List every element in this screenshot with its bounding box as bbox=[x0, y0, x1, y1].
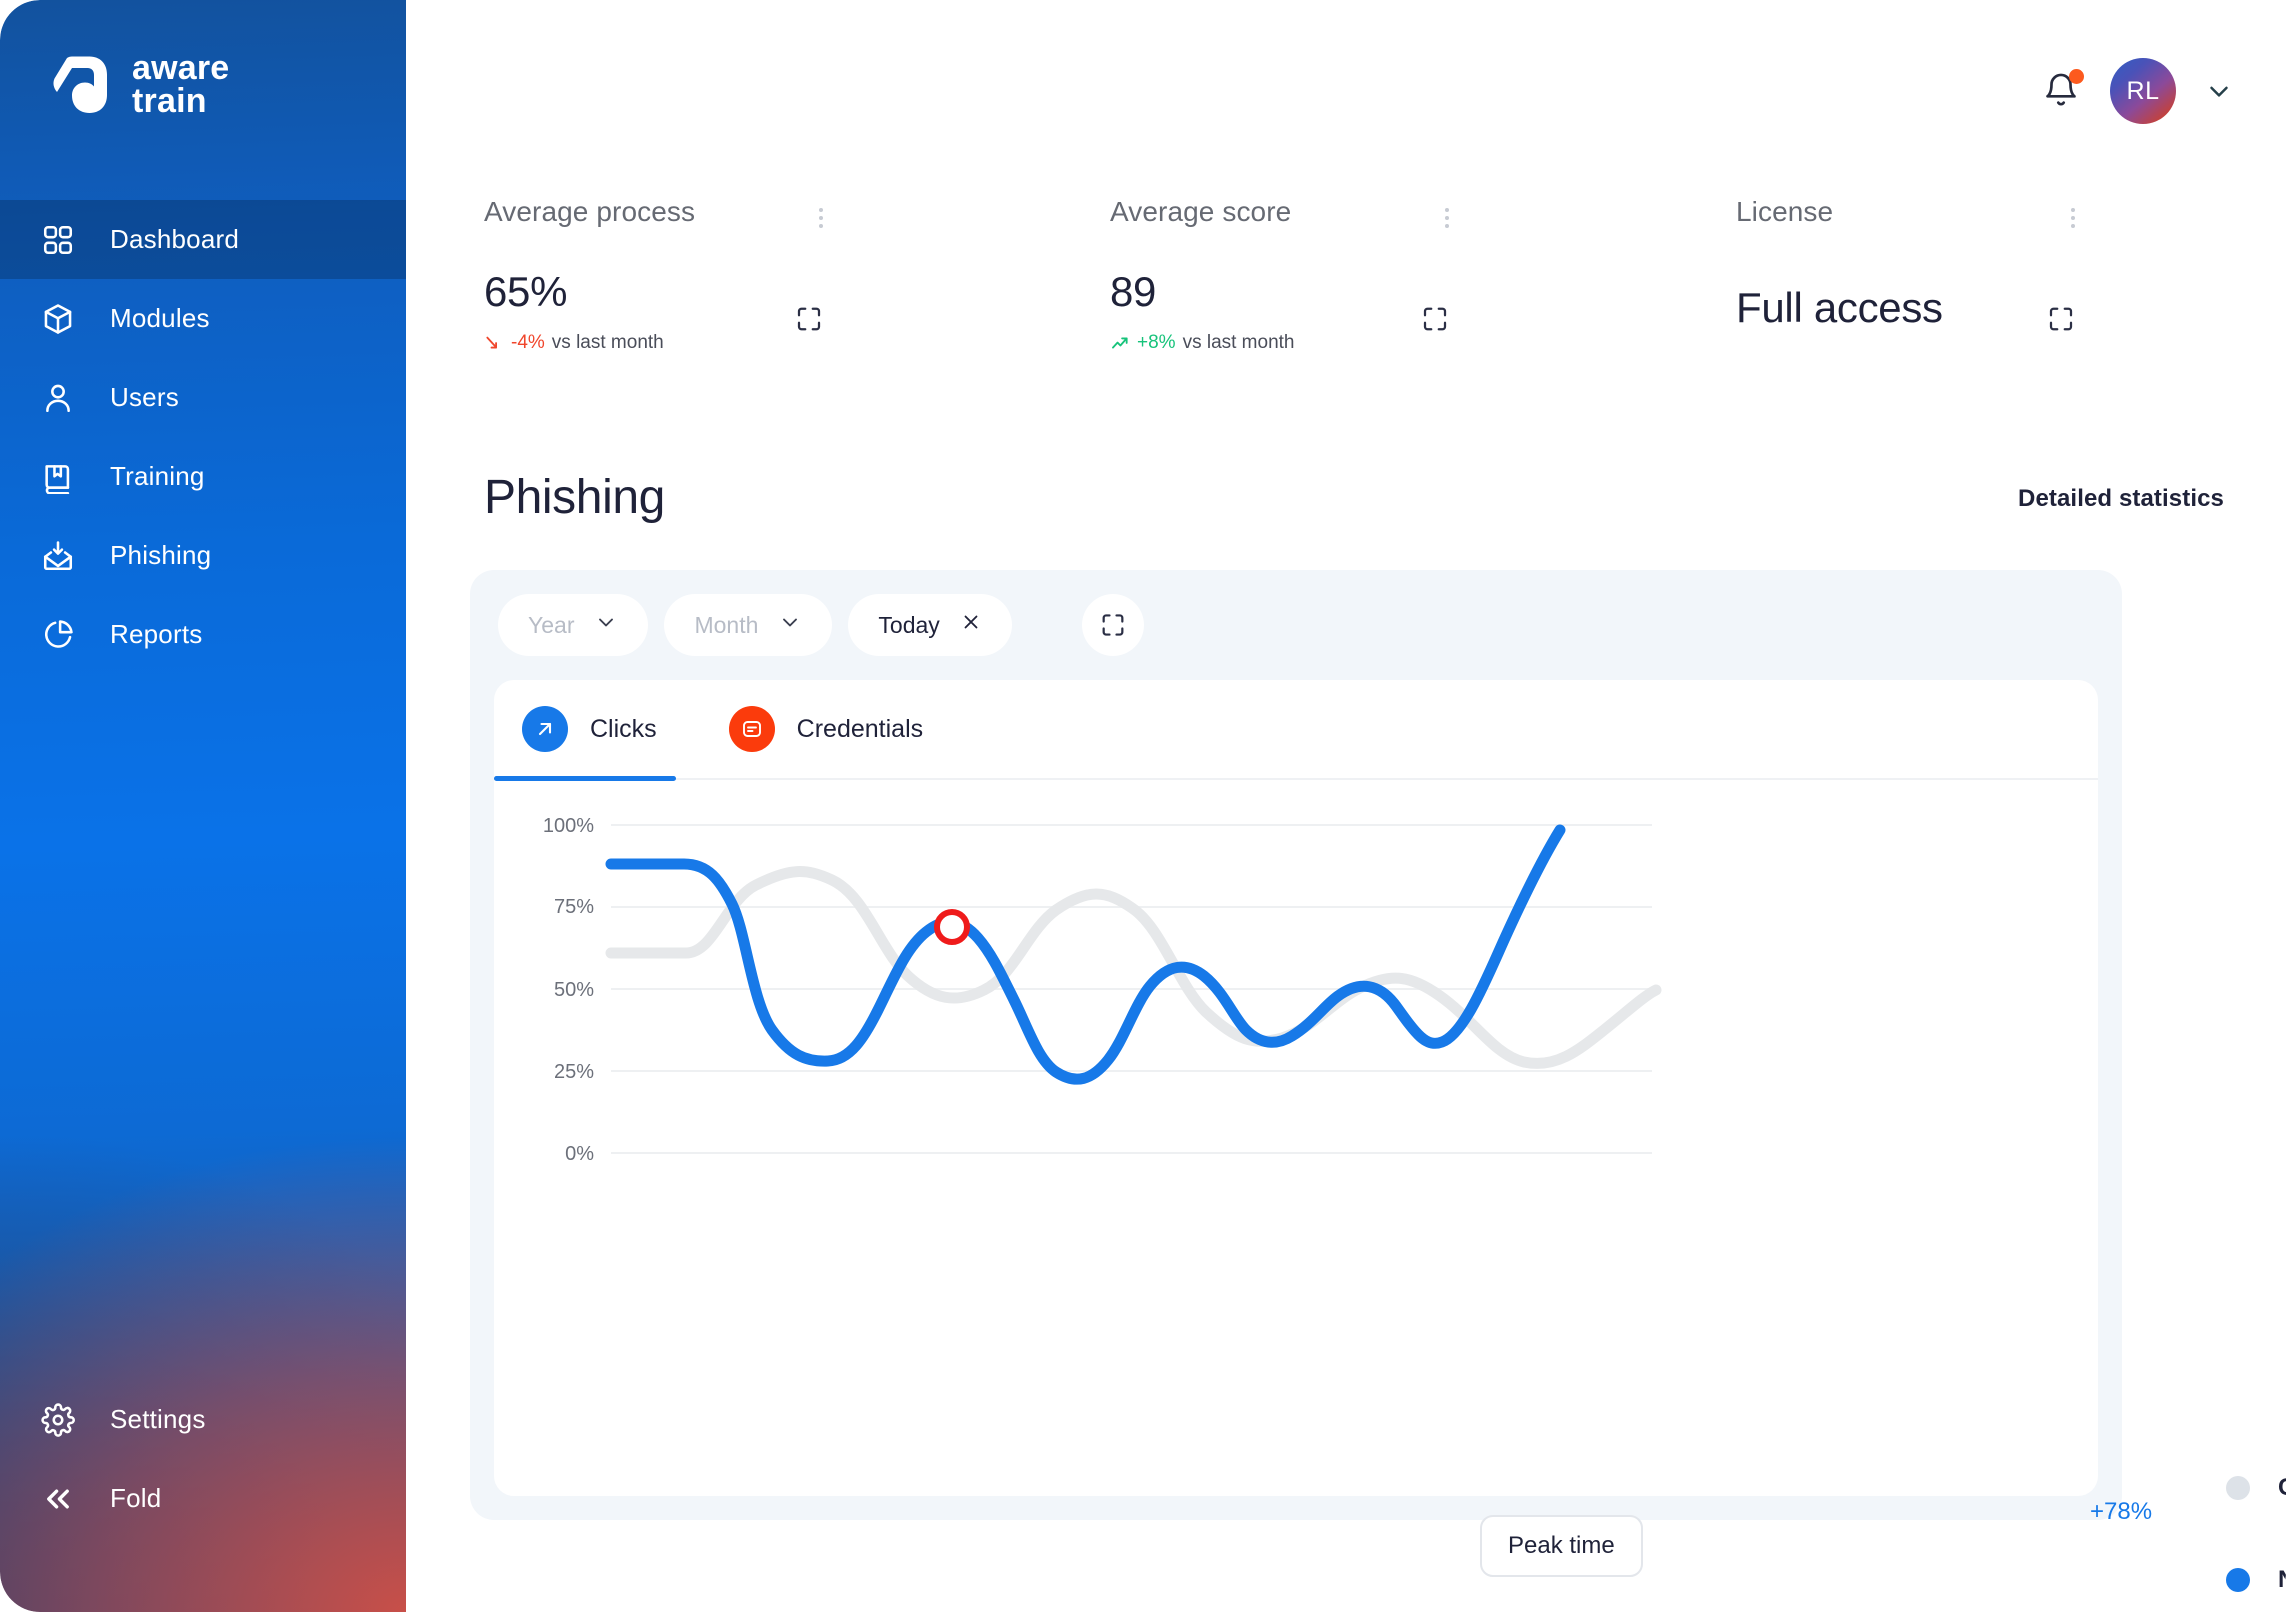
tab-credentials[interactable]: Credentials bbox=[729, 680, 923, 779]
sidebar-item-modules[interactable]: Modules bbox=[0, 279, 406, 358]
section-header: Phishing Detailed statistics bbox=[406, 470, 2286, 550]
stat-card-license: License Full access bbox=[1658, 196, 2284, 376]
chart-legend: Clicked Not clicked Entered credentials … bbox=[2226, 1442, 2286, 1612]
sidebar-item-label: Users bbox=[110, 382, 179, 413]
stat-title: Average score bbox=[1110, 196, 1658, 228]
chevron-down-icon[interactable] bbox=[2204, 76, 2234, 106]
chart-svg bbox=[494, 780, 2098, 1496]
stat-title: Average process bbox=[484, 196, 1032, 228]
panel-expand-button[interactable] bbox=[1082, 594, 1144, 656]
stat-delta-caption: vs last month bbox=[552, 332, 664, 354]
phishing-panel: Year Month Today bbox=[470, 570, 2122, 1520]
sidebar-item-label: Dashboard bbox=[110, 224, 239, 255]
sidebar-item-label: Phishing bbox=[110, 540, 211, 571]
filter-chip-today[interactable]: Today bbox=[848, 594, 1011, 656]
aware-train-logo-icon bbox=[48, 52, 114, 118]
brand-logo[interactable]: aware train bbox=[48, 52, 229, 118]
dashboard-app: aware train Dashboard Modules bbox=[0, 0, 2286, 1612]
filter-chip-year[interactable]: Year bbox=[498, 594, 648, 656]
filter-chip-label: Today bbox=[878, 612, 939, 639]
credential-card-icon bbox=[729, 706, 775, 752]
user-icon bbox=[36, 376, 80, 420]
main-content: RL Average process 65% -4% vs last month bbox=[406, 0, 2286, 1612]
stat-delta-percent: +8% bbox=[1137, 332, 1176, 354]
tab-label: Credentials bbox=[797, 715, 923, 744]
trend-up-icon bbox=[1110, 333, 1130, 353]
gear-icon bbox=[36, 1398, 80, 1442]
stat-card-average-process: Average process 65% -4% vs last month bbox=[406, 196, 1032, 376]
notifications-button[interactable] bbox=[2042, 70, 2082, 112]
book-icon bbox=[36, 455, 80, 499]
brand-name: aware train bbox=[132, 52, 229, 117]
stat-value: 65% bbox=[484, 268, 567, 316]
chart-tabs: Clicks Credentials bbox=[494, 680, 2098, 780]
stat-value: 89 bbox=[1110, 268, 1156, 316]
notification-badge bbox=[2069, 69, 2084, 84]
kebab-menu-icon[interactable] bbox=[1442, 208, 1452, 228]
sidebar-item-label: Fold bbox=[110, 1483, 161, 1514]
expand-icon bbox=[1099, 611, 1127, 639]
grid-icon bbox=[36, 218, 80, 262]
chart-plot-area: 100% 75% 50% 25% 0% bbox=[494, 780, 2098, 1496]
close-icon[interactable] bbox=[960, 611, 982, 639]
sidebar: aware train Dashboard Modules bbox=[0, 0, 406, 1612]
expand-icon[interactable] bbox=[2046, 304, 2076, 334]
series-line-clicked bbox=[611, 872, 1656, 1064]
sidebar-item-label: Modules bbox=[110, 303, 210, 334]
stat-delta: +8% vs last month bbox=[1110, 332, 1295, 354]
stat-delta-caption: vs last month bbox=[1183, 332, 1295, 354]
legend-label: Clicked bbox=[2278, 1474, 2286, 1502]
sidebar-nav-bottom: Settings Fold bbox=[0, 1380, 406, 1538]
sidebar-item-fold[interactable]: Fold bbox=[0, 1459, 406, 1538]
pie-chart-icon bbox=[36, 613, 80, 657]
stat-delta: -4% vs last month bbox=[484, 332, 664, 354]
sidebar-item-phishing[interactable]: Phishing bbox=[0, 516, 406, 595]
tab-label: Clicks bbox=[590, 715, 657, 744]
sidebar-item-reports[interactable]: Reports bbox=[0, 595, 406, 674]
legend-item-not-clicked[interactable]: Not clicked bbox=[2226, 1534, 2286, 1612]
filter-bar: Year Month Today bbox=[498, 594, 1012, 656]
stats-cards: Average process 65% -4% vs last month bbox=[406, 196, 2286, 376]
sidebar-item-label: Reports bbox=[110, 619, 202, 650]
sidebar-item-users[interactable]: Users bbox=[0, 358, 406, 437]
sidebar-nav-main: Dashboard Modules Users bbox=[0, 200, 406, 674]
stat-delta-percent: -4% bbox=[511, 332, 545, 354]
inbox-download-icon bbox=[36, 534, 80, 578]
page-title: Phishing bbox=[484, 470, 665, 525]
expand-icon[interactable] bbox=[1420, 304, 1450, 334]
chevron-down-icon bbox=[778, 610, 802, 640]
filter-chip-month[interactable]: Month bbox=[664, 594, 832, 656]
cube-icon bbox=[36, 297, 80, 341]
sidebar-item-label: Settings bbox=[110, 1404, 206, 1435]
filter-chip-label: Month bbox=[694, 612, 758, 639]
legend-color-swatch bbox=[2226, 1568, 2250, 1592]
tab-clicks[interactable]: Clicks bbox=[522, 680, 657, 779]
kebab-menu-icon[interactable] bbox=[816, 208, 826, 228]
series-line-not-clicked bbox=[611, 830, 1560, 1079]
sidebar-item-label: Training bbox=[110, 461, 205, 492]
sidebar-item-training[interactable]: Training bbox=[0, 437, 406, 516]
detailed-statistics-link[interactable]: Detailed statistics bbox=[2018, 485, 2224, 513]
sidebar-item-settings[interactable]: Settings bbox=[0, 1380, 406, 1459]
legend-item-clicked[interactable]: Clicked bbox=[2226, 1442, 2286, 1534]
topbar: RL bbox=[2042, 58, 2234, 124]
chevrons-left-icon bbox=[36, 1477, 80, 1521]
chart-card: Clicks Credentials 100% 75% 50% bbox=[494, 680, 2098, 1496]
growth-label: +78% bbox=[2090, 1498, 2152, 1526]
stat-card-average-score: Average score 89 +8% vs last month bbox=[1032, 196, 1658, 376]
legend-color-swatch bbox=[2226, 1476, 2250, 1500]
peak-marker-icon bbox=[937, 912, 967, 942]
sidebar-item-dashboard[interactable]: Dashboard bbox=[0, 200, 406, 279]
avatar[interactable]: RL bbox=[2110, 58, 2176, 124]
kebab-menu-icon[interactable] bbox=[2068, 208, 2078, 228]
legend-label: Not clicked bbox=[2278, 1566, 2286, 1594]
peak-time-tooltip: Peak time bbox=[1480, 1515, 1643, 1577]
stat-title: License bbox=[1736, 196, 2284, 228]
expand-icon[interactable] bbox=[794, 304, 824, 334]
stat-value: Full access bbox=[1736, 284, 1943, 332]
trend-down-icon bbox=[484, 333, 504, 353]
chevron-down-icon bbox=[594, 610, 618, 640]
arrow-up-right-icon bbox=[522, 706, 568, 752]
filter-chip-label: Year bbox=[528, 612, 574, 639]
